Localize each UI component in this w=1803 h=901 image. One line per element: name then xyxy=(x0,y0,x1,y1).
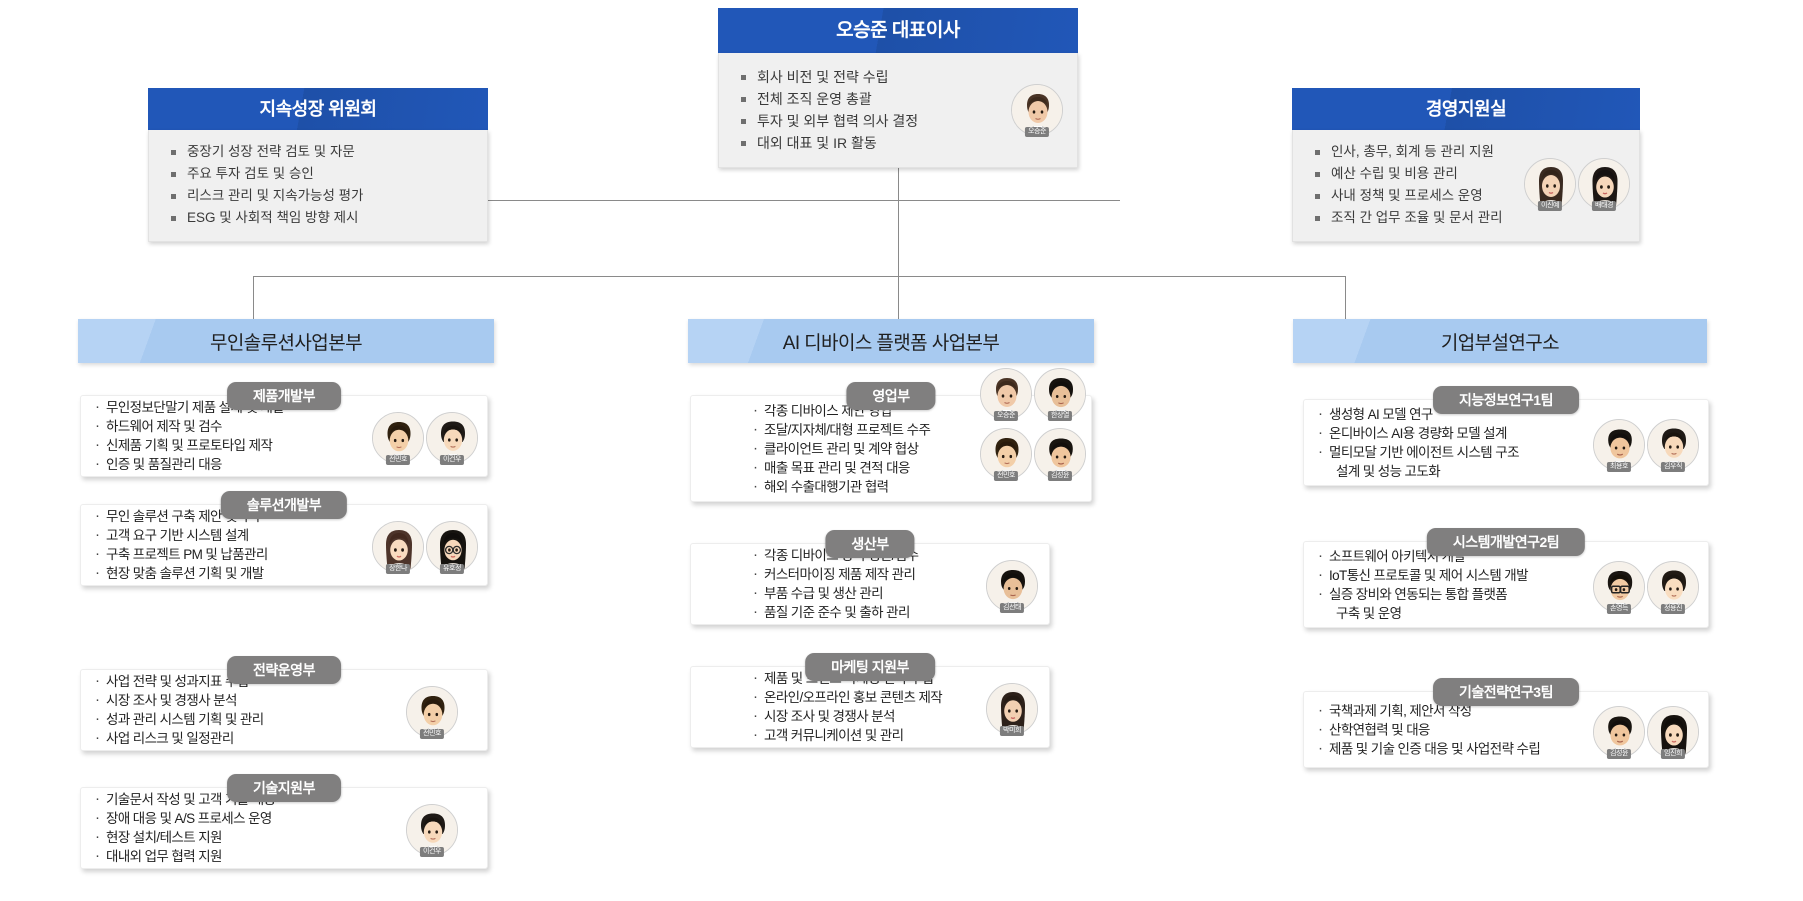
division-header-3[interactable]: 기업부설연구소 xyxy=(1293,319,1707,363)
department-card-2-2[interactable]: 생산부 각종 디바이스 장비 생산/검수 커스터마이징 제품 제작 관리 부품 … xyxy=(690,530,1050,625)
committee-card-title: 지속성장 위원회 xyxy=(148,88,488,130)
connector-division-3-down xyxy=(1345,276,1346,319)
avatar[interactable]: 전민호 xyxy=(406,686,458,738)
support-office-card-body: 인사, 총무, 회계 등 관리 지원 예산 수립 및 비용 관리 사내 정책 및… xyxy=(1292,130,1640,242)
division-header-2[interactable]: AI 디바이스 플랫폼 사업본부 xyxy=(688,319,1094,363)
department-title: 제품개발부 xyxy=(227,382,341,410)
department-card-1-3[interactable]: 전략운영부 사업 전략 및 성과지표 수립 시장 조사 및 경쟁사 분석 성과 … xyxy=(80,656,488,751)
department-title: 생산부 xyxy=(825,530,914,558)
department-avatars: 오승준 xyxy=(979,368,1087,480)
department-title: 지능정보연구1팀 xyxy=(1433,386,1579,414)
avatar-name: 김성윤 xyxy=(1048,471,1072,481)
department-avatars: 박미희 xyxy=(985,683,1039,735)
department-card-3-3[interactable]: 기술전략연구3팀 국책과제 기획, 제안서 작성 산학연협력 및 대응 제품 및… xyxy=(1303,678,1709,768)
list-item: 주요 투자 검토 및 승인 xyxy=(149,163,487,185)
avatar-name: 오승준 xyxy=(1025,127,1049,137)
avatar-name: 배태경 xyxy=(1592,201,1616,211)
avatar-name: 손영득 xyxy=(1607,604,1631,614)
avatar-name: 이건우 xyxy=(440,455,464,465)
connector-divisions-bus xyxy=(253,276,1345,277)
avatar-name: 정용진 xyxy=(1661,604,1685,614)
department-title: 마케팅 지원부 xyxy=(805,653,935,681)
department-card-2-1[interactable]: 영업부 각종 디바이스 제안 영업 조달/지자체/대형 프로젝트 수주 클라이언… xyxy=(690,382,1092,502)
list-item: ESG 및 사회적 책임 방향 제시 xyxy=(149,207,487,229)
avatar[interactable]: 오승준 xyxy=(980,368,1032,420)
support-office-card-title: 경영지원실 xyxy=(1292,88,1640,130)
avatar[interactable]: 김성윤 xyxy=(1593,706,1645,758)
avatar[interactable]: 정용진 xyxy=(1647,561,1699,613)
department-avatars: 김성윤 xyxy=(1592,706,1700,758)
avatar-name: 전민호 xyxy=(420,729,444,739)
avatar[interactable]: 임진희 xyxy=(1647,706,1699,758)
avatar[interactable]: 박미희 xyxy=(986,683,1038,735)
avatar[interactable]: 유호정 xyxy=(426,521,478,573)
committee-responsibility-list: 중장기 성장 전략 검토 및 자문 주요 투자 검토 및 승인 리스크 관리 및… xyxy=(149,141,487,229)
ceo-card-body: 회사 비전 및 전략 수립 전체 조직 운영 총괄 투자 및 외부 협력 의사 … xyxy=(718,53,1078,168)
avatar-name: 유호정 xyxy=(440,564,464,574)
avatar[interactable]: 김선태 xyxy=(986,560,1038,612)
avatar-name: 전민호 xyxy=(386,455,410,465)
avatar-name: 김선태 xyxy=(1000,603,1024,613)
list-item: 리스크 관리 및 지속가능성 평가 xyxy=(149,185,487,207)
connector-committee-horizontal xyxy=(424,200,898,201)
department-card-1-1[interactable]: 제품개발부 무인정보단말기 제품 설계 및 개발 하드웨어 제작 및 검수 신제… xyxy=(80,382,488,477)
support-office-avatars: 이신예 xyxy=(1523,158,1631,210)
department-card-1-2[interactable]: 솔루션개발부 무인 솔루션 구축 제안 및 수주 고객 요구 기반 시스템 설계… xyxy=(80,491,488,586)
department-avatars: 김선태 xyxy=(985,560,1039,612)
connector-division-1-down xyxy=(253,276,254,319)
department-avatars: 장한나 xyxy=(371,521,479,573)
connector-division-2-down xyxy=(898,276,899,319)
avatar[interactable]: 이건우 xyxy=(426,412,478,464)
department-body: 각종 디바이스 제안 영업 조달/지자체/대형 프로젝트 수주 클라이언트 관리… xyxy=(690,395,1092,502)
connector-ceo-down xyxy=(898,168,899,276)
division-header-1[interactable]: 무인솔루션사업본부 xyxy=(78,319,494,363)
department-avatars: 전민호 xyxy=(371,412,479,464)
avatar[interactable]: 이건우 xyxy=(406,804,458,856)
org-chart: 오승준 대표이사 회사 비전 및 전략 수립 전체 조직 운영 총괄 투자 및 … xyxy=(0,0,1803,901)
department-title: 기술전략연구3팀 xyxy=(1433,678,1579,706)
department-title: 시스템개발연구2팀 xyxy=(1427,528,1585,556)
committee-card[interactable]: 지속성장 위원회 중장기 성장 전략 검토 및 자문 주요 투자 검토 및 승인… xyxy=(148,88,488,242)
avatar-name: 이건우 xyxy=(420,847,444,857)
avatar[interactable]: 장한나 xyxy=(372,521,424,573)
department-avatars: 이건우 xyxy=(405,804,459,856)
department-card-3-1[interactable]: 지능정보연구1팀 생성형 AI 모델 연구 온디바이스 AI용 경량화 모델 설… xyxy=(1303,386,1709,486)
department-card-1-4[interactable]: 기술지원부 기술문서 작성 및 고객 기술 대응 장애 대응 및 A/S 프로세… xyxy=(80,774,488,869)
avatar[interactable]: 손영득 xyxy=(1593,561,1645,613)
avatar-name: 최용호 xyxy=(1607,462,1631,472)
avatar-name: 박미희 xyxy=(1000,726,1024,736)
avatar-name: 김성윤 xyxy=(1607,749,1631,759)
connector-support-horizontal xyxy=(898,200,1120,201)
ceo-card[interactable]: 오승준 대표이사 회사 비전 및 전략 수립 전체 조직 운영 총괄 투자 및 … xyxy=(718,8,1078,168)
avatar-name: 오승준 xyxy=(994,411,1018,421)
avatar[interactable]: 이신예 xyxy=(1524,158,1576,210)
department-card-2-3[interactable]: 마케팅 지원부 제품 및 브랜드 마케팅 전략 수립 온라인/오프라인 홍보 콘… xyxy=(690,653,1050,748)
list-item: 중장기 성장 전략 검토 및 자문 xyxy=(149,141,487,163)
avatar-name: 전민호 xyxy=(994,471,1018,481)
avatar[interactable]: 오승준 xyxy=(1011,84,1063,136)
list-item: 조직 간 업무 조율 및 문서 관리 xyxy=(1293,207,1639,229)
ceo-card-title: 오승준 대표이사 xyxy=(718,8,1078,53)
avatar[interactable]: 배태경 xyxy=(1578,158,1630,210)
department-card-3-2[interactable]: 시스템개발연구2팀 소프트웨어 아키텍처 개발 IoT통신 프로토콜 및 제어 … xyxy=(1303,528,1709,628)
department-title: 전략운영부 xyxy=(227,656,341,684)
avatar-name: 이신예 xyxy=(1538,201,1562,211)
ceo-avatars: 오승준 xyxy=(1010,84,1064,136)
department-avatars: 전민호 xyxy=(405,686,459,738)
department-title: 기술지원부 xyxy=(227,774,341,802)
avatar[interactable]: 김성윤 xyxy=(1034,428,1086,480)
department-avatars: 손영득 xyxy=(1592,561,1700,613)
avatar[interactable]: 전민호 xyxy=(980,428,1032,480)
avatar-name: 김우직 xyxy=(1661,462,1685,472)
avatar-name: 임진희 xyxy=(1661,749,1685,759)
avatar[interactable]: 한상열 xyxy=(1034,368,1086,420)
department-title: 영업부 xyxy=(846,382,935,410)
avatar[interactable]: 최용호 xyxy=(1593,419,1645,471)
support-office-card[interactable]: 경영지원실 인사, 총무, 회계 등 관리 지원 예산 수립 및 비용 관리 사… xyxy=(1292,88,1640,242)
avatar[interactable]: 전민호 xyxy=(372,412,424,464)
department-avatars: 최용호 xyxy=(1592,419,1700,471)
department-title: 솔루션개발부 xyxy=(221,491,347,519)
avatar-name: 한상열 xyxy=(1048,411,1072,421)
avatar-name: 장한나 xyxy=(386,564,410,574)
avatar[interactable]: 김우직 xyxy=(1647,419,1699,471)
committee-card-body: 중장기 성장 전략 검토 및 자문 주요 투자 검토 및 승인 리스크 관리 및… xyxy=(148,130,488,242)
